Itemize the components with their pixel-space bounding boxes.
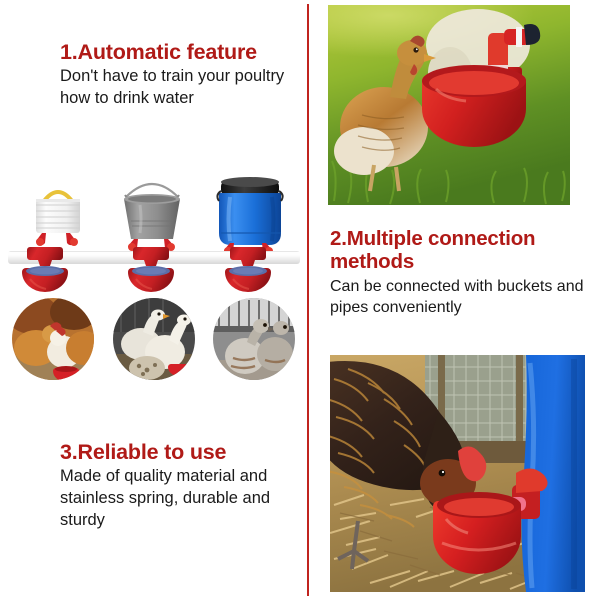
feature-body-automatic: Don't have to train your poultry how to … — [60, 66, 310, 110]
feature-block-connection: 2.Multiple connection methods Can be con… — [330, 228, 592, 318]
hen-drinking-from-barrel-photo — [330, 355, 585, 592]
chickens-circle-photo — [12, 298, 94, 380]
poultry-types-strip — [12, 298, 300, 380]
feature-block-automatic: 1.Automatic feature Don't have to train … — [60, 40, 310, 110]
hen-in-grass-with-drinker-cup-photo — [328, 5, 570, 205]
feature-title-automatic: 1.Automatic feature — [60, 40, 310, 64]
feature-title-reliable: 3.Reliable to use — [60, 440, 310, 464]
pigeons-circle-photo — [213, 298, 295, 380]
geese-circle-photo — [113, 298, 195, 380]
feature-block-reliable: 3.Reliable to use Made of quality materi… — [60, 440, 310, 532]
infographic-page: 1.Automatic feature Don't have to train … — [0, 0, 600, 600]
feature-title-connection: 2.Multiple connection methods — [330, 228, 592, 274]
feature-body-reliable: Made of quality material and stainless s… — [60, 466, 310, 532]
connection-methods-diagram — [8, 165, 300, 295]
feature-body-connection: Can be connected with buckets and pipes … — [330, 276, 592, 319]
